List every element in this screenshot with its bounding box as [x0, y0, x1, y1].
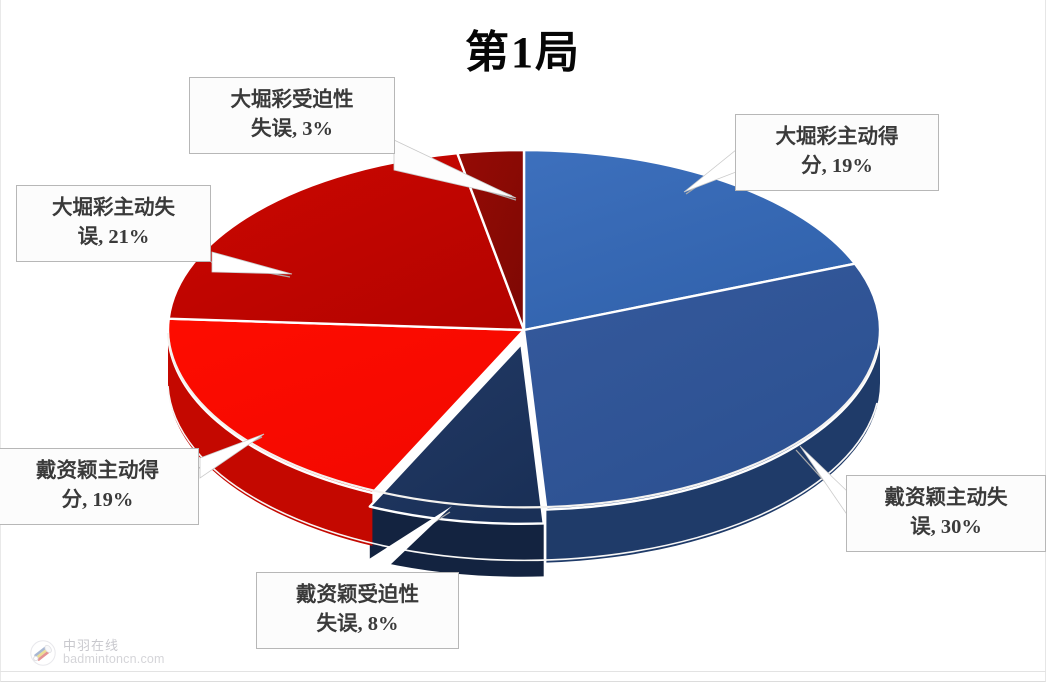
data-label-okuhara-forced-error[interactable]: 大堀彩受迫性 失误, 3%	[189, 77, 395, 154]
data-label-line2: 误, 21%	[23, 223, 204, 252]
data-label-tai-active-error[interactable]: 戴资颖主动失 误, 30%	[846, 475, 1046, 552]
watermark-url: badmintoncn.com	[63, 653, 165, 666]
data-label-okuhara-active-error[interactable]: 大堀彩主动失 误, 21%	[16, 185, 211, 262]
data-label-line1: 戴资颖受迫性	[263, 581, 452, 610]
watermark: 中羽在线 badmintoncn.com	[30, 639, 165, 666]
data-label-tai-forced-error[interactable]: 戴资颖受迫性 失误, 8%	[256, 572, 459, 649]
data-label-tai-active-point[interactable]: 戴资颖主动得 分, 19%	[0, 448, 199, 525]
data-label-line2: 误, 30%	[853, 513, 1039, 542]
watermark-text: 中羽在线 badmintoncn.com	[63, 639, 165, 666]
watermark-site-name: 中羽在线	[63, 639, 165, 653]
data-label-okuhara-active-point[interactable]: 大堀彩主动得 分, 19%	[735, 114, 939, 191]
data-label-line1: 大堀彩主动得	[742, 123, 932, 152]
data-label-line1: 大堀彩受迫性	[196, 86, 388, 115]
data-label-line1: 大堀彩主动失	[23, 194, 204, 223]
data-label-line1: 戴资颖主动得	[3, 457, 192, 486]
pie-chart-svg	[0, 0, 1046, 682]
data-label-line2: 失误, 8%	[263, 610, 452, 639]
data-label-line1: 戴资颖主动失	[853, 484, 1039, 513]
data-label-line2: 分, 19%	[742, 152, 932, 181]
data-label-line2: 分, 19%	[3, 486, 192, 515]
shuttlecock-logo-icon	[30, 640, 56, 666]
pie-chart[interactable]	[0, 0, 1046, 682]
data-label-line2: 失误, 3%	[196, 115, 388, 144]
